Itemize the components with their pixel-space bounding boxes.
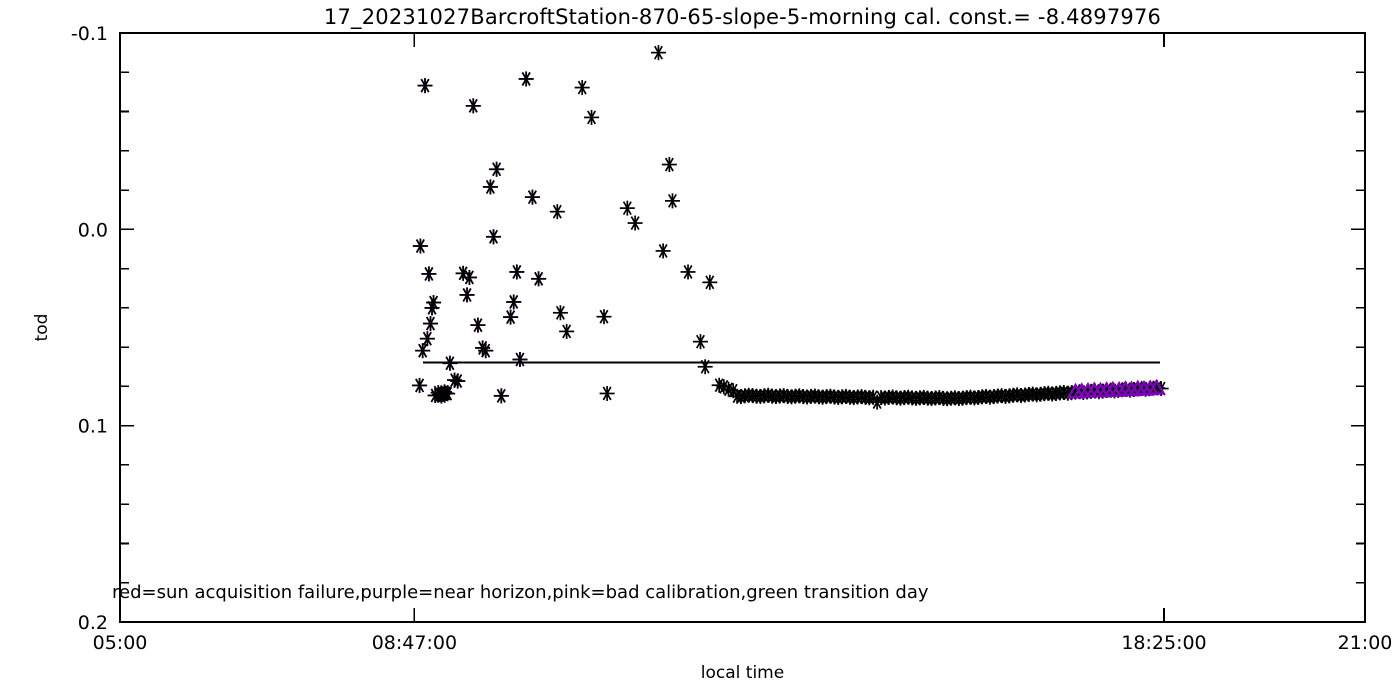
data-point-asterisk bbox=[550, 204, 565, 219]
data-point-asterisk bbox=[412, 378, 427, 393]
data-point-asterisk bbox=[470, 318, 485, 333]
data-point-asterisk bbox=[620, 201, 635, 216]
axis-labels: 17_20231027BarcroftStation-870-65-slope-… bbox=[32, 5, 1392, 683]
data-point-asterisk bbox=[662, 157, 677, 172]
legend-label: red=sun acquisition failure,purple=near … bbox=[112, 582, 929, 603]
plot-container: 17_20231027BarcroftStation-870-65-slope-… bbox=[0, 0, 1400, 700]
y-tick-label-3: -0.1 bbox=[71, 23, 108, 45]
plot-frame bbox=[120, 33, 1365, 622]
plot-border bbox=[120, 33, 1365, 622]
x-tick-label-1: 08:47:00 bbox=[372, 632, 457, 654]
data-point-asterisk bbox=[553, 305, 568, 320]
x-tick-label-0: 05:00 bbox=[93, 632, 148, 654]
data-point-asterisk bbox=[600, 386, 615, 401]
data-point-asterisk bbox=[466, 98, 481, 113]
y-axis-title: tod bbox=[32, 314, 52, 342]
data-point-asterisk bbox=[584, 110, 599, 125]
y-tick-label-0: 0.2 bbox=[78, 612, 108, 634]
x-tick-label-2: 18:25:00 bbox=[1121, 632, 1206, 654]
data-point-asterisk bbox=[681, 264, 696, 279]
data-point-asterisk bbox=[512, 352, 527, 367]
data-point-asterisk bbox=[519, 71, 534, 86]
data-point-asterisk bbox=[483, 179, 498, 194]
data-point-asterisk bbox=[702, 275, 717, 290]
data-point-asterisk bbox=[423, 316, 438, 331]
data-point-asterisk bbox=[575, 80, 590, 95]
page-title: 17_20231027BarcroftStation-870-65-slope-… bbox=[324, 5, 1161, 30]
data-point-asterisk bbox=[628, 216, 643, 231]
data-point-asterisk bbox=[413, 239, 428, 254]
data-point-asterisk bbox=[421, 266, 436, 281]
data-point-asterisk bbox=[503, 310, 518, 325]
data-point-asterisk bbox=[531, 271, 546, 286]
axis-ticks bbox=[120, 33, 1365, 622]
scatter-plot-svg: 17_20231027BarcroftStation-870-65-slope-… bbox=[0, 0, 1400, 700]
data-points bbox=[412, 45, 1169, 409]
data-point-asterisk bbox=[460, 287, 475, 302]
x-axis-title: local time bbox=[701, 663, 784, 683]
data-point-asterisk bbox=[489, 162, 504, 177]
data-point-asterisk bbox=[665, 193, 680, 208]
data-point-asterisk bbox=[486, 229, 501, 244]
x-tick-label-3: 21:00 bbox=[1338, 632, 1393, 654]
data-point-asterisk bbox=[698, 359, 713, 374]
data-point-asterisk bbox=[525, 190, 540, 205]
data-point-asterisk bbox=[693, 334, 708, 349]
data-point-asterisk bbox=[651, 45, 666, 60]
y-tick-label-2: 0.0 bbox=[78, 219, 108, 241]
data-point-asterisk bbox=[656, 243, 671, 258]
data-point-asterisk bbox=[442, 356, 457, 371]
data-point-asterisk bbox=[596, 309, 611, 324]
data-point-asterisk bbox=[494, 388, 509, 403]
data-point-asterisk bbox=[506, 294, 521, 309]
series-unflagged-black- bbox=[412, 45, 1169, 409]
data-point-asterisk bbox=[559, 324, 574, 339]
data-point-asterisk bbox=[509, 264, 524, 279]
data-point-asterisk bbox=[418, 78, 433, 93]
y-tick-label-1: 0.1 bbox=[78, 416, 108, 438]
